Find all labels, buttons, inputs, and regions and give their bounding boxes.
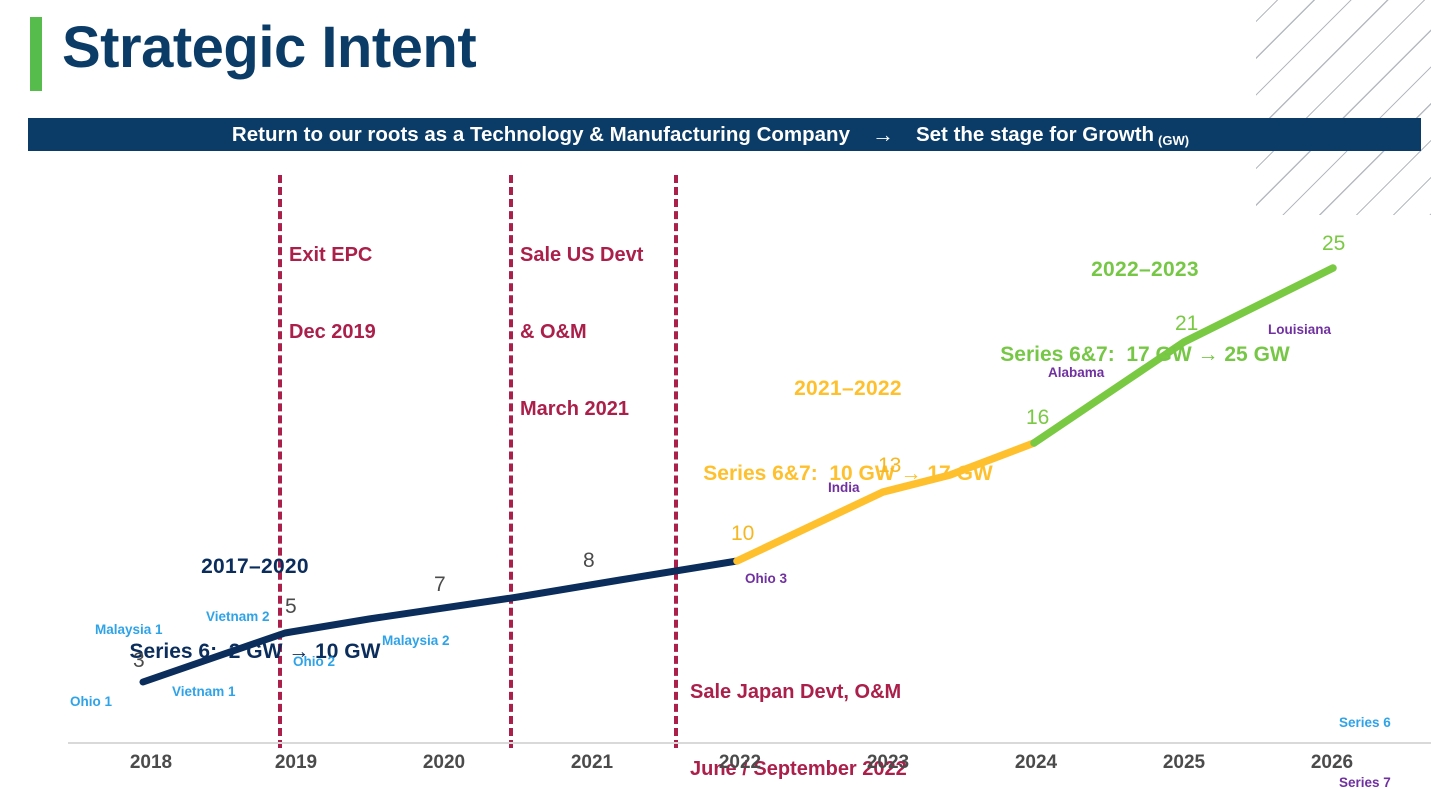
x-tick-2024: 2024 (981, 752, 1091, 774)
event-note-sale-us: Sale US Devt & O&M March 2021 (520, 192, 643, 474)
phase-2017-2020-years: 2017–2020 (110, 554, 400, 581)
site-label-vietnam-1: Vietnam 1 (172, 683, 236, 700)
value-label-2025: 21 (1175, 311, 1198, 338)
phase-2017-2020-desc: Series 6: 2 GW → 10 GW (110, 639, 400, 666)
legend-item-series-7: Series 7 (1339, 773, 1391, 789)
value-label-2021: 8 (583, 548, 595, 575)
site-label-india: India (828, 479, 860, 496)
value-label-2020: 7 (434, 572, 446, 599)
slide-root: Strategic Intent Return to our roots as … (0, 0, 1431, 789)
event-note-sale-us-line3: March 2021 (520, 397, 643, 423)
site-label-louisiana: Louisiana (1268, 321, 1331, 338)
x-tick-2025: 2025 (1129, 752, 1239, 774)
event-divider-sale-japan (674, 175, 678, 748)
banner-unit-label: (GW) (1158, 133, 1189, 148)
event-note-exit-epc-line1: Exit EPC (289, 243, 376, 269)
title-accent-bar (30, 17, 42, 91)
site-label-malaysia-2: Malaysia 2 (382, 632, 450, 649)
phase-annotation-2022-2023: 2022–2023 Series 6&7: 17 GW → 25 GW (1000, 203, 1290, 423)
value-label-2018: 3 (133, 648, 145, 675)
x-tick-2018: 2018 (96, 752, 206, 774)
site-label-malaysia-1: Malaysia 1 (95, 621, 163, 638)
x-tick-2026: 2026 (1277, 752, 1387, 774)
banner-right-text: Set the stage for Growth (916, 123, 1154, 147)
x-axis-line (68, 742, 1431, 744)
x-tick-2021: 2021 (537, 752, 647, 774)
value-label-2023: 13 (878, 453, 901, 480)
x-tick-2020: 2020 (389, 752, 499, 774)
banner-left-text: Return to our roots as a Technology & Ma… (232, 123, 850, 147)
event-note-sale-us-line2: & O&M (520, 320, 643, 346)
banner-arrow-icon: → (872, 122, 894, 148)
page-title: Strategic Intent (62, 14, 476, 82)
x-tick-2022: 2022 (685, 752, 795, 774)
diagonal-hatch-decoration (1256, 0, 1431, 215)
phase-2021-2022-years: 2021–2022 (703, 376, 993, 403)
site-label-ohio-2: Ohio 2 (293, 653, 335, 670)
value-label-2026: 25 (1322, 231, 1345, 258)
value-label-2024: 16 (1026, 405, 1049, 432)
value-label-2019: 5 (285, 594, 297, 621)
event-note-exit-epc-line2: Dec 2019 (289, 320, 376, 346)
value-label-2022: 10 (731, 521, 754, 548)
event-note-sale-us-line1: Sale US Devt (520, 243, 643, 269)
site-label-vietnam-2: Vietnam 2 (206, 608, 270, 625)
x-tick-2019: 2019 (241, 752, 351, 774)
event-divider-sale-us (509, 175, 513, 748)
event-note-exit-epc: Exit EPC Dec 2019 (289, 192, 376, 397)
phase-2022-2023-years: 2022–2023 (1000, 257, 1290, 284)
x-tick-2023: 2023 (833, 752, 943, 774)
event-note-sale-japan-line1: Sale Japan Devt, O&M (690, 680, 907, 706)
legend-item-series-6: Series 6 (1339, 713, 1391, 733)
site-label-alabama: Alabama (1048, 364, 1104, 381)
banner-text: Return to our roots as a Technology & Ma… (0, 118, 1431, 151)
phase-2022-2023-desc: Series 6&7: 17 GW → 25 GW (1000, 342, 1290, 369)
site-label-ohio-1: Ohio 1 (70, 693, 112, 710)
phase-annotation-2021-2022: 2021–2022 Series 6&7: 10 GW → 17 GW (703, 322, 993, 542)
site-label-ohio-3: Ohio 3 (745, 570, 787, 587)
